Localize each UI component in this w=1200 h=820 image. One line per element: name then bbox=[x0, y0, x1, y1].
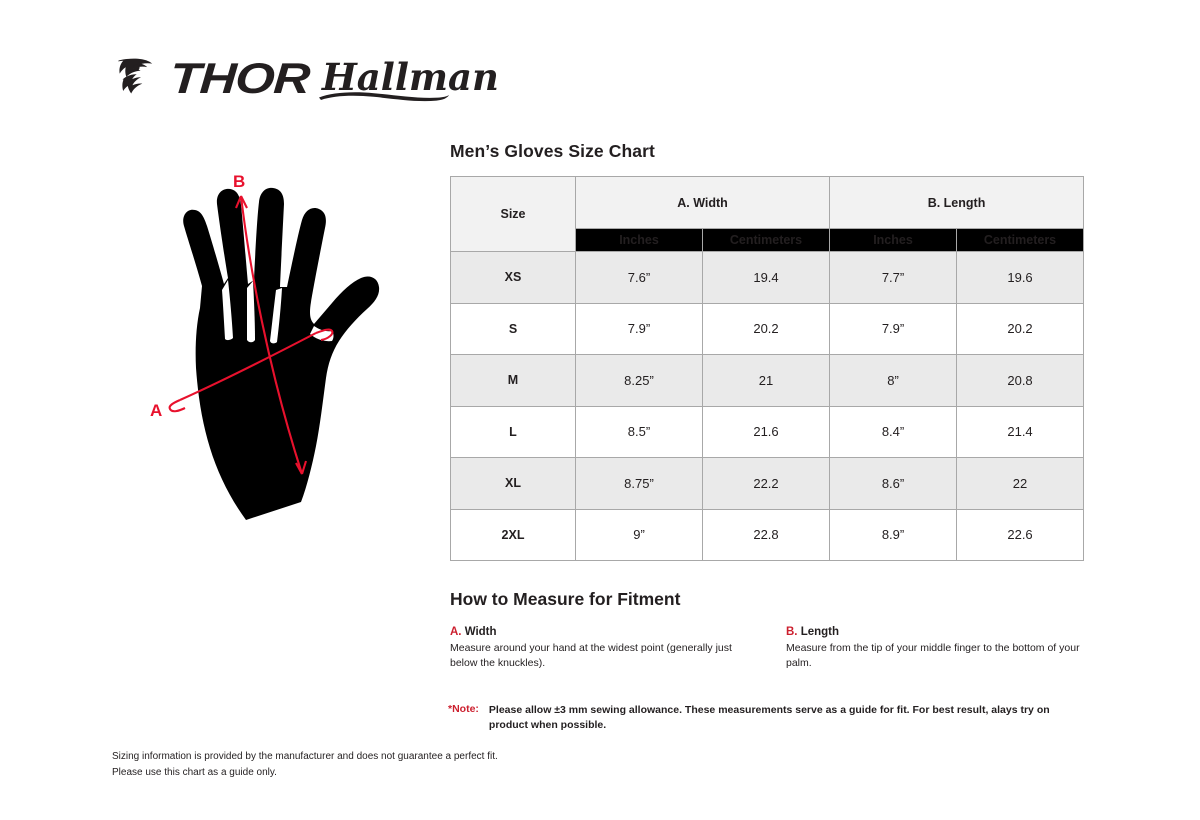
table-body: XS 7.6” 19.4 7.7” 19.6 S 7.9” 20.2 7.9” … bbox=[451, 252, 1084, 561]
note-block: *Note: Please allow ±3 mm sewing allowan… bbox=[448, 703, 1088, 733]
how-to-measure-title: How to Measure for Fitment bbox=[450, 589, 680, 610]
cell-size: XS bbox=[451, 252, 576, 304]
hallman-logo: Hallman bbox=[322, 59, 499, 100]
note-label: *Note: bbox=[448, 703, 479, 733]
cell-width-centimeters: 19.4 bbox=[703, 252, 830, 304]
brand-logo-bar: THOR Hallman bbox=[112, 48, 499, 110]
cell-size: S bbox=[451, 303, 576, 355]
cell-length-inches: 8” bbox=[830, 355, 957, 407]
thor-wordmark: THOR bbox=[169, 58, 311, 101]
cell-length-centimeters: 19.6 bbox=[957, 252, 1084, 304]
header-width-group: A. Width bbox=[576, 177, 830, 229]
cell-width-centimeters: 22.2 bbox=[703, 458, 830, 510]
measure-width-description: Measure around your hand at the widest p… bbox=[450, 641, 758, 671]
hallman-swash-icon bbox=[318, 90, 450, 102]
cell-width-inches: 7.6” bbox=[576, 252, 703, 304]
cell-length-inches: 8.6” bbox=[830, 458, 957, 510]
header-length-inches: Inches bbox=[830, 229, 957, 252]
cell-length-centimeters: 21.4 bbox=[957, 406, 1084, 458]
note-text: Please allow ±3 mm sewing allowance. The… bbox=[489, 703, 1088, 733]
footer-disclaimer: Sizing information is provided by the ma… bbox=[112, 749, 498, 780]
header-width-inches: Inches bbox=[576, 229, 703, 252]
table-row: 2XL 9” 22.8 8.9” 22.6 bbox=[451, 509, 1084, 561]
cell-length-centimeters: 20.8 bbox=[957, 355, 1084, 407]
measure-width-block: A. Width Measure around your hand at the… bbox=[450, 626, 758, 671]
thor-helmet-icon bbox=[112, 51, 168, 107]
cell-width-inches: 9” bbox=[576, 509, 703, 561]
cell-length-inches: 7.9” bbox=[830, 303, 957, 355]
cell-width-centimeters: 21 bbox=[703, 355, 830, 407]
table-head: Size A. Width B. Length Inches Centimete… bbox=[451, 177, 1084, 252]
hand-measurement-diagram: B A bbox=[118, 168, 428, 540]
cell-length-centimeters: 20.2 bbox=[957, 303, 1084, 355]
table-row: XL 8.75” 22.2 8.6” 22 bbox=[451, 458, 1084, 510]
size-chart-table: Size A. Width B. Length Inches Centimete… bbox=[450, 176, 1084, 561]
page-title: Men’s Gloves Size Chart bbox=[450, 141, 655, 162]
cell-size: 2XL bbox=[451, 509, 576, 561]
table-row: S 7.9” 20.2 7.9” 20.2 bbox=[451, 303, 1084, 355]
cell-length-inches: 7.7” bbox=[830, 252, 957, 304]
cell-size: L bbox=[451, 406, 576, 458]
footer-line-1: Sizing information is provided by the ma… bbox=[112, 749, 498, 765]
hand-silhouette-icon bbox=[183, 188, 379, 520]
measure-width-letter: A. bbox=[450, 626, 462, 638]
table-header-row-groups: Size A. Width B. Length bbox=[451, 177, 1084, 229]
cell-width-centimeters: 20.2 bbox=[703, 303, 830, 355]
cell-size: M bbox=[451, 355, 576, 407]
measure-width-name: Width bbox=[465, 626, 497, 638]
table-row: M 8.25” 21 8” 20.8 bbox=[451, 355, 1084, 407]
cell-length-inches: 8.9” bbox=[830, 509, 957, 561]
cell-width-inches: 8.5” bbox=[576, 406, 703, 458]
measure-length-letter: B. bbox=[786, 626, 798, 638]
thor-logo: THOR bbox=[112, 51, 288, 107]
table-row: XS 7.6” 19.4 7.7” 19.6 bbox=[451, 252, 1084, 304]
cell-width-inches: 8.75” bbox=[576, 458, 703, 510]
header-width-centimeters: Centimeters bbox=[703, 229, 830, 252]
diagram-label-b: B bbox=[233, 172, 245, 191]
cell-length-centimeters: 22 bbox=[957, 458, 1084, 510]
footer-line-2: Please use this chart as a guide only. bbox=[112, 765, 498, 781]
cell-width-inches: 8.25” bbox=[576, 355, 703, 407]
measure-length-name: Length bbox=[801, 626, 839, 638]
measure-length-block: B. Length Measure from the tip of your m… bbox=[786, 626, 1094, 671]
cell-size: XL bbox=[451, 458, 576, 510]
header-length-centimeters: Centimeters bbox=[957, 229, 1084, 252]
measure-length-description: Measure from the tip of your middle fing… bbox=[786, 641, 1094, 671]
cell-width-centimeters: 21.6 bbox=[703, 406, 830, 458]
header-length-group: B. Length bbox=[830, 177, 1084, 229]
cell-width-inches: 7.9” bbox=[576, 303, 703, 355]
cell-length-centimeters: 22.6 bbox=[957, 509, 1084, 561]
header-size: Size bbox=[451, 177, 576, 252]
table-row: L 8.5” 21.6 8.4” 21.4 bbox=[451, 406, 1084, 458]
measure-width-heading: A. Width bbox=[450, 626, 758, 638]
measure-length-heading: B. Length bbox=[786, 626, 1094, 638]
cell-length-inches: 8.4” bbox=[830, 406, 957, 458]
cell-width-centimeters: 22.8 bbox=[703, 509, 830, 561]
diagram-label-a: A bbox=[150, 401, 162, 420]
